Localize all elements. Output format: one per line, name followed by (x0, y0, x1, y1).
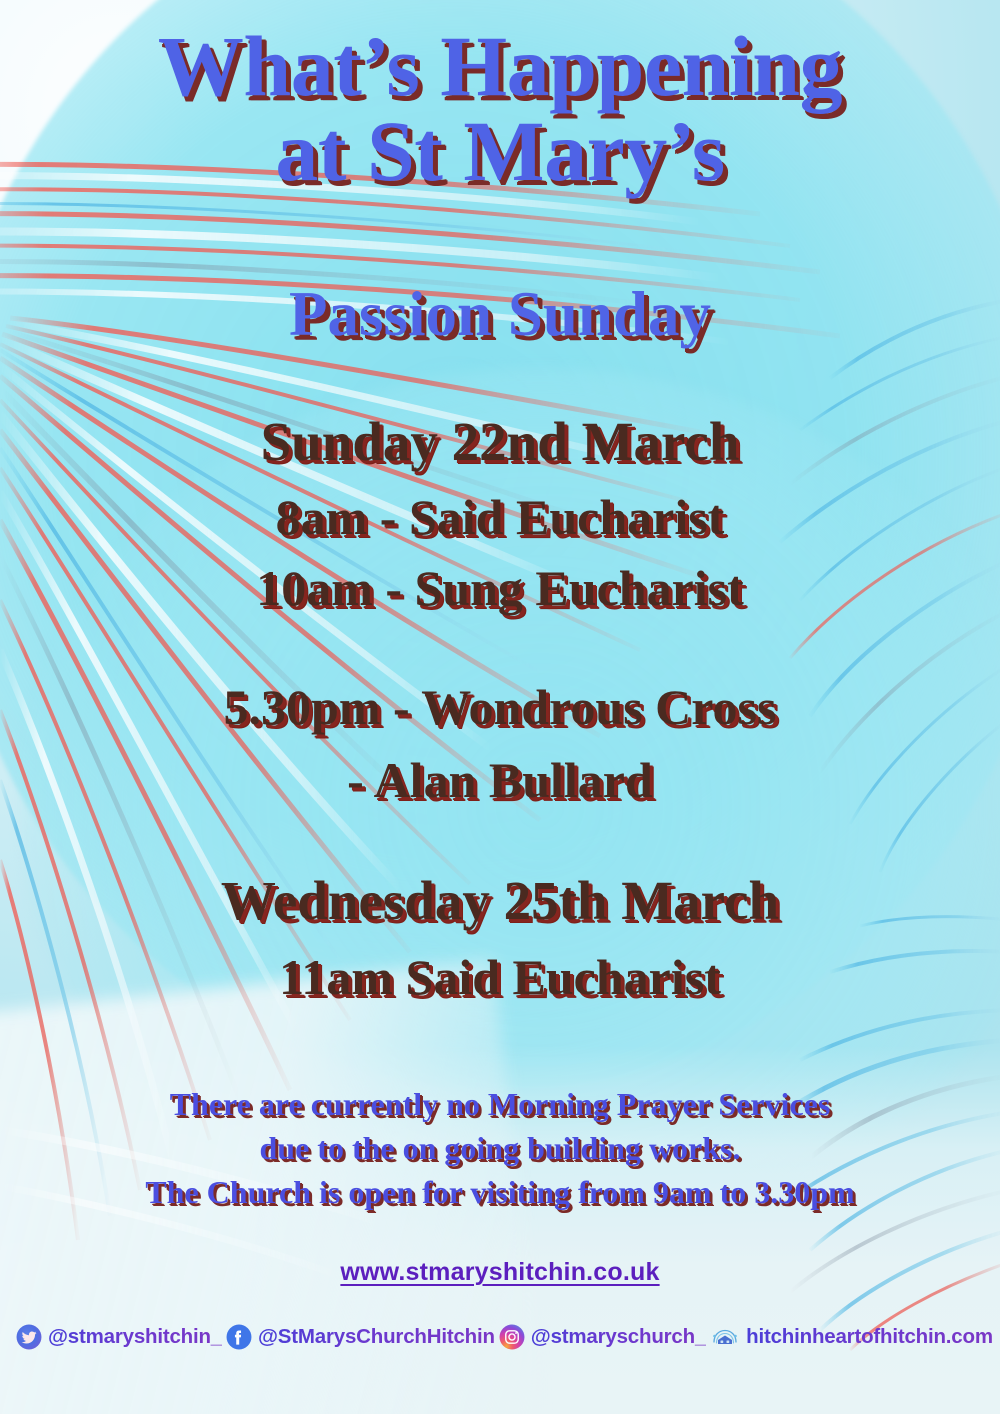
poster-subtitle: Passion Sunday (0, 283, 1000, 346)
service-item-11am: 11am Said Eucharist (0, 952, 1000, 1002)
social-item-facebook[interactable]: @StMarysChurchHitchin (226, 1324, 495, 1350)
social-footer: @stmaryshitchin_ @StMarysChurchHitchin (16, 1324, 990, 1350)
facebook-icon[interactable] (226, 1324, 252, 1350)
title-line-2: at St Mary’s (0, 109, 1000, 194)
poster-content: What’s Happening at St Mary’s Passion Su… (0, 0, 1000, 1414)
social-item-twitter[interactable]: @stmaryshitchin_ (16, 1324, 222, 1350)
twitter-icon[interactable] (16, 1324, 42, 1350)
notice-line-2: due to the on going building works. (0, 1126, 1000, 1170)
service-date-wednesday: Wednesday 25th March (0, 873, 1000, 928)
social-handle-hitchin-heart[interactable]: hitchinheartofhitchin.com (746, 1325, 993, 1349)
service-item-wondrous-cross: 5.30pm - Wondrous Cross (0, 682, 1000, 732)
website-url-link[interactable]: www.stmaryshitchin.co.uk (0, 1258, 1000, 1287)
instagram-icon[interactable] (499, 1324, 525, 1350)
hitchin-heart-icon[interactable] (710, 1324, 740, 1350)
service-date-sunday: Sunday 22nd March (0, 414, 1000, 469)
service-item-10am: 10am - Sung Eucharist (0, 563, 1000, 613)
social-handle-facebook[interactable]: @StMarysChurchHitchin (258, 1325, 495, 1349)
social-item-hitchin-heart[interactable]: hitchinheartofhitchin.com (710, 1324, 993, 1350)
service-item-8am: 8am - Said Eucharist (0, 492, 1000, 542)
notice-line-1: There are currently no Morning Prayer Se… (0, 1082, 1000, 1126)
notice-block: There are currently no Morning Prayer Se… (0, 1082, 1000, 1214)
service-item-composer: - Alan Bullard (0, 755, 1000, 805)
page-title: What’s Happening at St Mary’s (0, 24, 1000, 194)
notice-line-3: The Church is open for visiting from 9am… (0, 1170, 1000, 1214)
social-handle-twitter[interactable]: @stmaryshitchin_ (48, 1325, 222, 1349)
poster-canvas: What’s Happening at St Mary’s Passion Su… (0, 0, 1000, 1414)
social-item-instagram[interactable]: @stmaryschurch_ (499, 1324, 706, 1350)
title-line-1: What’s Happening (158, 18, 842, 114)
social-handle-instagram[interactable]: @stmaryschurch_ (531, 1325, 706, 1349)
